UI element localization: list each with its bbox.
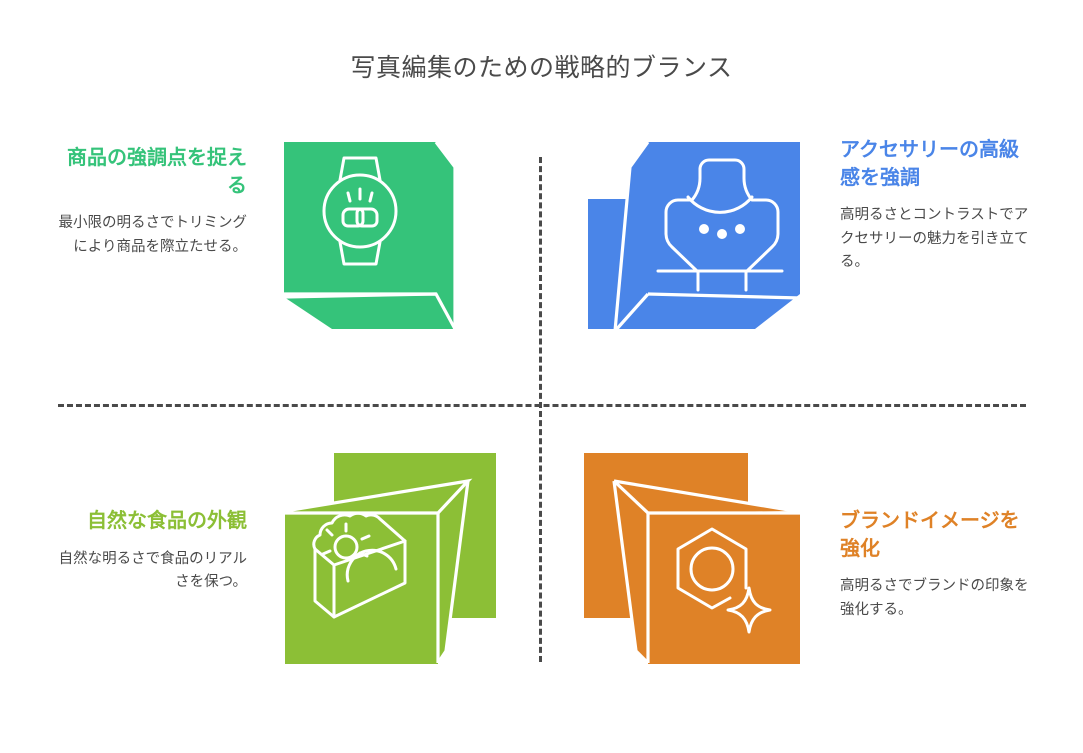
illustration-bottom-right — [570, 441, 820, 691]
quadrant-text-bottom-right: ブランドイメージを強化 高明るさでブランドの印象を強化する。 — [840, 508, 1032, 622]
quadrant-heading-bottom-right: ブランドイメージを強化 — [840, 508, 1032, 563]
quadrant-heading-bottom-left: 自然な食品の外観 — [55, 508, 247, 536]
quadrant-text-bottom-left: 自然な食品の外観 自然な明るさで食品のリアルさを保つ。 — [55, 508, 247, 595]
quadrant-body-top-right: 高明るさとコントラストでアクセサリーの魅力を引き立てる。 — [840, 204, 1032, 274]
horizontal-divider — [58, 404, 1026, 407]
quadrant-heading-top-right: アクセサリーの高級感を強調 — [840, 137, 1032, 192]
box-front-face — [284, 142, 436, 294]
infographic-canvas: 写真編集のための戦略的ブランス 商品の強調点を捉える 最小限の明るさでトリミング… — [0, 0, 1083, 753]
vertical-divider — [539, 157, 542, 662]
quadrant-text-top-right: アクセサリーの高級感を強調 高明るさとコントラストでアクセサリーの魅力を引き立て… — [840, 137, 1032, 275]
illustration-top-right — [570, 131, 820, 381]
illustration-bottom-left — [272, 441, 522, 691]
quadrant-text-top-left: 商品の強調点を捉える 最小限の明るさでトリミングにより商品を際立たせる。 — [55, 145, 247, 259]
page-title: 写真編集のための戦略的ブランス — [0, 52, 1083, 85]
box-bottom-panel — [284, 294, 455, 329]
illustration-top-left — [272, 131, 522, 381]
box-front-face — [285, 512, 438, 664]
quadrant-body-bottom-right: 高明るさでブランドの印象を強化する。 — [840, 575, 1032, 622]
quadrant-body-top-left: 最小限の明るさでトリミングにより商品を際立たせる。 — [55, 212, 247, 259]
quadrant-body-bottom-left: 自然な明るさで食品のリアルさを保つ。 — [55, 548, 247, 595]
quadrant-heading-top-left: 商品の強調点を捉える — [55, 145, 247, 200]
